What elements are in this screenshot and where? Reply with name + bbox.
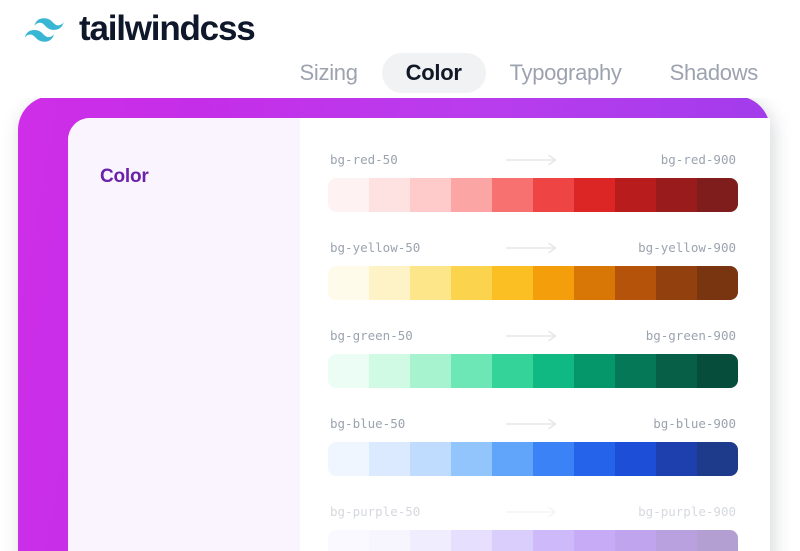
swatch-yellow-9[interactable]: [697, 266, 738, 300]
swatch-green-0[interactable]: [328, 354, 369, 388]
swatch-red-4[interactable]: [492, 178, 533, 212]
swatch-purple-7[interactable]: [615, 530, 656, 551]
swatch-red-8[interactable]: [656, 178, 697, 212]
swatch-label-start-green: bg-green-50: [330, 328, 413, 343]
swatch-yellow-6[interactable]: [574, 266, 615, 300]
swatch-red-1[interactable]: [369, 178, 410, 212]
color-swatch-list[interactable]: bg-red-50bg-red-900bg-yellow-50bg-yellow…: [300, 118, 770, 551]
swatch-blue-1[interactable]: [369, 442, 410, 476]
swatch-blue-9[interactable]: [697, 442, 738, 476]
swatch-label-end-green: bg-green-900: [646, 328, 736, 343]
swatch-group-purple: bg-purple-50bg-purple-900: [328, 502, 738, 551]
swatch-group-blue: bg-blue-50bg-blue-900: [328, 414, 738, 476]
device-frame: Color bg-red-50bg-red-900bg-yellow-50bg-…: [18, 96, 770, 551]
swatch-blue-5[interactable]: [533, 442, 574, 476]
brand: tailwindcss: [20, 11, 254, 49]
swatch-green-8[interactable]: [656, 354, 697, 388]
tab-bar: Sizing Color Typography Shadows: [276, 53, 782, 93]
swatch-label-end-blue: bg-blue-900: [653, 416, 736, 431]
swatch-label-end-purple: bg-purple-900: [638, 504, 736, 519]
swatch-yellow-3[interactable]: [451, 266, 492, 300]
swatch-yellow-7[interactable]: [615, 266, 656, 300]
swatch-green-2[interactable]: [410, 354, 451, 388]
swatch-bar-yellow: [328, 266, 738, 300]
page-root: tailwindcss Sizing Color Typography Shad…: [0, 0, 800, 551]
swatch-blue-4[interactable]: [492, 442, 533, 476]
swatch-group-green: bg-green-50bg-green-900: [328, 326, 738, 388]
swatch-green-5[interactable]: [533, 354, 574, 388]
swatch-bar-red: [328, 178, 738, 212]
swatch-purple-4[interactable]: [492, 530, 533, 551]
swatch-label-end-red: bg-red-900: [661, 152, 736, 167]
swatch-blue-0[interactable]: [328, 442, 369, 476]
swatch-blue-6[interactable]: [574, 442, 615, 476]
swatch-purple-0[interactable]: [328, 530, 369, 551]
swatch-purple-9[interactable]: [697, 530, 738, 551]
swatch-blue-7[interactable]: [615, 442, 656, 476]
swatch-head-green: bg-green-50bg-green-900: [328, 326, 738, 344]
swatch-red-9[interactable]: [697, 178, 738, 212]
arrow-right-icon: [506, 329, 560, 341]
tab-shadows[interactable]: Shadows: [646, 53, 782, 93]
swatch-bar-green: [328, 354, 738, 388]
swatch-head-blue: bg-blue-50bg-blue-900: [328, 414, 738, 432]
swatch-green-7[interactable]: [615, 354, 656, 388]
swatch-yellow-2[interactable]: [410, 266, 451, 300]
swatch-green-9[interactable]: [697, 354, 738, 388]
swatch-red-3[interactable]: [451, 178, 492, 212]
swatch-yellow-8[interactable]: [656, 266, 697, 300]
swatch-red-0[interactable]: [328, 178, 369, 212]
swatch-red-7[interactable]: [615, 178, 656, 212]
arrow-right-icon: [506, 417, 560, 429]
swatch-yellow-1[interactable]: [369, 266, 410, 300]
swatch-green-1[interactable]: [369, 354, 410, 388]
sidebar-title: Color: [100, 166, 300, 188]
tab-typography[interactable]: Typography: [486, 53, 646, 93]
swatch-bar-blue: [328, 442, 738, 476]
swatch-head-red: bg-red-50bg-red-900: [328, 150, 738, 168]
swatch-label-start-purple: bg-purple-50: [330, 504, 420, 519]
swatch-label-start-yellow: bg-yellow-50: [330, 240, 420, 255]
tab-sizing[interactable]: Sizing: [276, 53, 382, 93]
swatch-green-3[interactable]: [451, 354, 492, 388]
swatch-purple-5[interactable]: [533, 530, 574, 551]
swatch-head-purple: bg-purple-50bg-purple-900: [328, 502, 738, 520]
swatch-blue-8[interactable]: [656, 442, 697, 476]
swatch-blue-3[interactable]: [451, 442, 492, 476]
swatch-blue-2[interactable]: [410, 442, 451, 476]
swatch-purple-1[interactable]: [369, 530, 410, 551]
sidebar: Color: [68, 118, 300, 551]
swatch-head-yellow: bg-yellow-50bg-yellow-900: [328, 238, 738, 256]
swatch-purple-2[interactable]: [410, 530, 451, 551]
swatch-yellow-4[interactable]: [492, 266, 533, 300]
swatch-purple-3[interactable]: [451, 530, 492, 551]
swatch-red-2[interactable]: [410, 178, 451, 212]
swatch-bar-purple: [328, 530, 738, 551]
swatch-yellow-0[interactable]: [328, 266, 369, 300]
device-screen: Color bg-red-50bg-red-900bg-yellow-50bg-…: [68, 118, 770, 551]
swatch-green-4[interactable]: [492, 354, 533, 388]
arrow-right-icon: [506, 505, 560, 517]
arrow-right-icon: [506, 241, 560, 253]
swatch-purple-6[interactable]: [574, 530, 615, 551]
swatch-label-start-red: bg-red-50: [330, 152, 398, 167]
arrow-right-icon: [506, 153, 560, 165]
swatch-red-6[interactable]: [574, 178, 615, 212]
swatch-red-5[interactable]: [533, 178, 574, 212]
swatch-label-start-blue: bg-blue-50: [330, 416, 405, 431]
swatch-green-6[interactable]: [574, 354, 615, 388]
page-header: tailwindcss Sizing Color Typography Shad…: [0, 0, 800, 98]
swatch-group-yellow: bg-yellow-50bg-yellow-900: [328, 238, 738, 300]
swatch-purple-8[interactable]: [656, 530, 697, 551]
tailwind-wave-logo-icon: [20, 15, 68, 45]
swatch-group-red: bg-red-50bg-red-900: [328, 150, 738, 212]
tab-color[interactable]: Color: [382, 53, 486, 93]
brand-name: tailwindcss: [79, 11, 254, 49]
swatch-label-end-yellow: bg-yellow-900: [638, 240, 736, 255]
swatch-yellow-5[interactable]: [533, 266, 574, 300]
